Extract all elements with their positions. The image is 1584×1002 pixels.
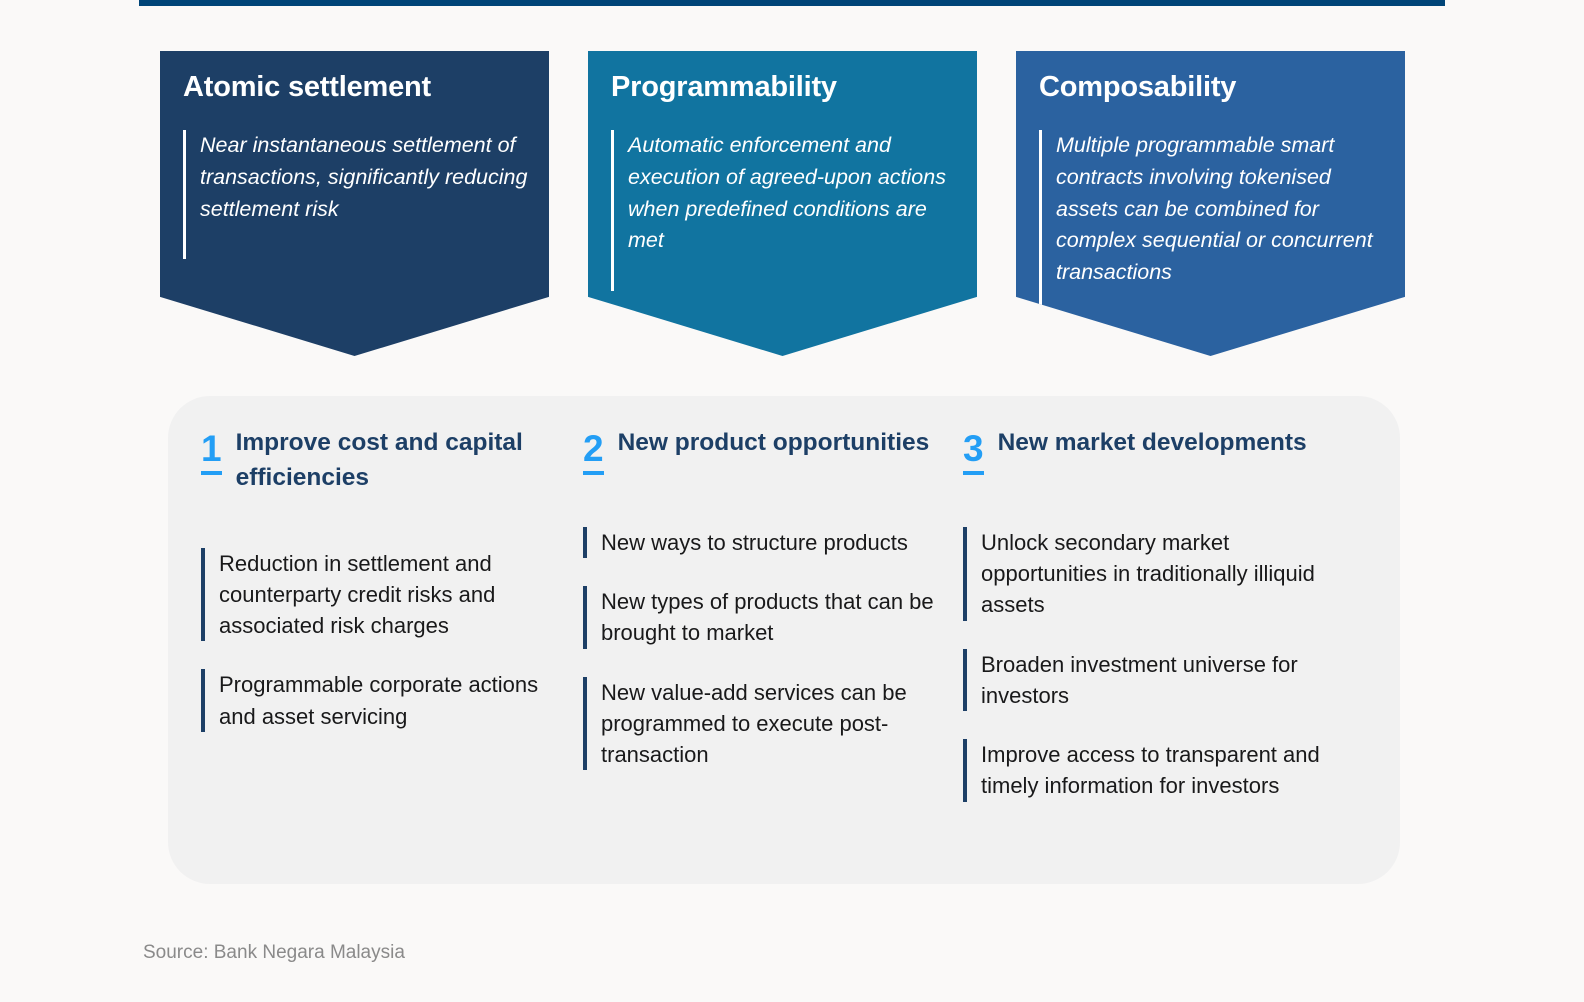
bullet-accent-bar: [583, 677, 587, 771]
list-item-text: Unlock secondary market opportunities in…: [981, 527, 1323, 621]
feature-banner-description: Multiple programmable smart contracts in…: [1056, 130, 1391, 323]
feature-banner-title: Atomic settlement: [183, 71, 431, 104]
bullet-accent-bar: [963, 649, 967, 711]
list-item: Broaden investment universe for investor…: [963, 649, 1323, 711]
benefit-title: New product opportunities: [618, 426, 930, 461]
feature-banner-description: Near instantaneous settlement of transac…: [200, 130, 535, 259]
feature-banner-description-group: Near instantaneous settlement of transac…: [183, 130, 535, 259]
benefit-column-2: 2 New product opportunities New ways to …: [583, 426, 943, 798]
list-item: Improve access to transparent and timely…: [963, 739, 1323, 801]
infographic-root: Atomic settlement Near instantaneous set…: [0, 0, 1584, 1002]
feature-banner-atomic-settlement: Atomic settlement Near instantaneous set…: [160, 51, 549, 356]
list-item: Programmable corporate actions and asset…: [201, 669, 541, 731]
benefit-title: Improve cost and capital efficiencies: [236, 426, 541, 496]
list-item-text: New ways to structure products: [601, 527, 908, 558]
list-item: Reduction in settlement and counterparty…: [201, 548, 541, 642]
feature-banner-programmability: Programmability Automatic enforcement an…: [588, 51, 977, 356]
benefits-panel: 1 Improve cost and capital efficiencies …: [168, 396, 1400, 884]
benefit-item-list: New ways to structure products New types…: [583, 527, 943, 770]
bullet-accent-bar: [583, 586, 587, 648]
benefit-column-header: 1 Improve cost and capital efficiencies: [201, 426, 541, 496]
vertical-rule: [611, 130, 614, 291]
feature-banner-composability: Composability Multiple programmable smar…: [1016, 51, 1405, 356]
list-item-text: Improve access to transparent and timely…: [981, 739, 1323, 801]
benefit-title: New market developments: [998, 426, 1307, 461]
source-caption: Source: Bank Negara Malaysia: [143, 942, 405, 964]
list-item-text: New value-add services can be programmed…: [601, 677, 943, 771]
benefit-column-header: 2 New product opportunities: [583, 426, 943, 475]
feature-banner-description-group: Automatic enforcement and execution of a…: [611, 130, 963, 291]
list-item: New value-add services can be programmed…: [583, 677, 943, 771]
feature-banner-title: Programmability: [611, 71, 837, 104]
feature-banner-description-group: Multiple programmable smart contracts in…: [1039, 130, 1391, 323]
bullet-accent-bar: [201, 669, 205, 731]
list-item: New types of products that can be brough…: [583, 586, 943, 648]
benefit-column-1: 1 Improve cost and capital efficiencies …: [201, 426, 541, 760]
benefit-item-list: Unlock secondary market opportunities in…: [963, 527, 1323, 802]
vertical-rule: [1039, 130, 1042, 323]
benefit-number: 2: [583, 430, 604, 475]
list-item-text: New types of products that can be brough…: [601, 586, 943, 648]
top-rule-divider: [139, 0, 1445, 6]
list-item-text: Reduction in settlement and counterparty…: [219, 548, 541, 642]
list-item-text: Programmable corporate actions and asset…: [219, 669, 541, 731]
feature-banner-row: Atomic settlement Near instantaneous set…: [0, 51, 1584, 361]
benefit-number: 1: [201, 430, 222, 475]
bullet-accent-bar: [583, 527, 587, 558]
list-item: New ways to structure products: [583, 527, 943, 558]
bullet-accent-bar: [963, 739, 967, 801]
bullet-accent-bar: [963, 527, 967, 621]
feature-banner-description: Automatic enforcement and execution of a…: [628, 130, 963, 291]
list-item: Unlock secondary market opportunities in…: [963, 527, 1323, 621]
feature-banner-title: Composability: [1039, 71, 1236, 104]
vertical-rule: [183, 130, 186, 259]
bullet-accent-bar: [201, 548, 205, 642]
benefit-column-3: 3 New market developments Unlock seconda…: [963, 426, 1323, 830]
benefit-item-list: Reduction in settlement and counterparty…: [201, 548, 541, 732]
benefit-number: 3: [963, 430, 984, 475]
benefit-column-header: 3 New market developments: [963, 426, 1323, 475]
list-item-text: Broaden investment universe for investor…: [981, 649, 1323, 711]
